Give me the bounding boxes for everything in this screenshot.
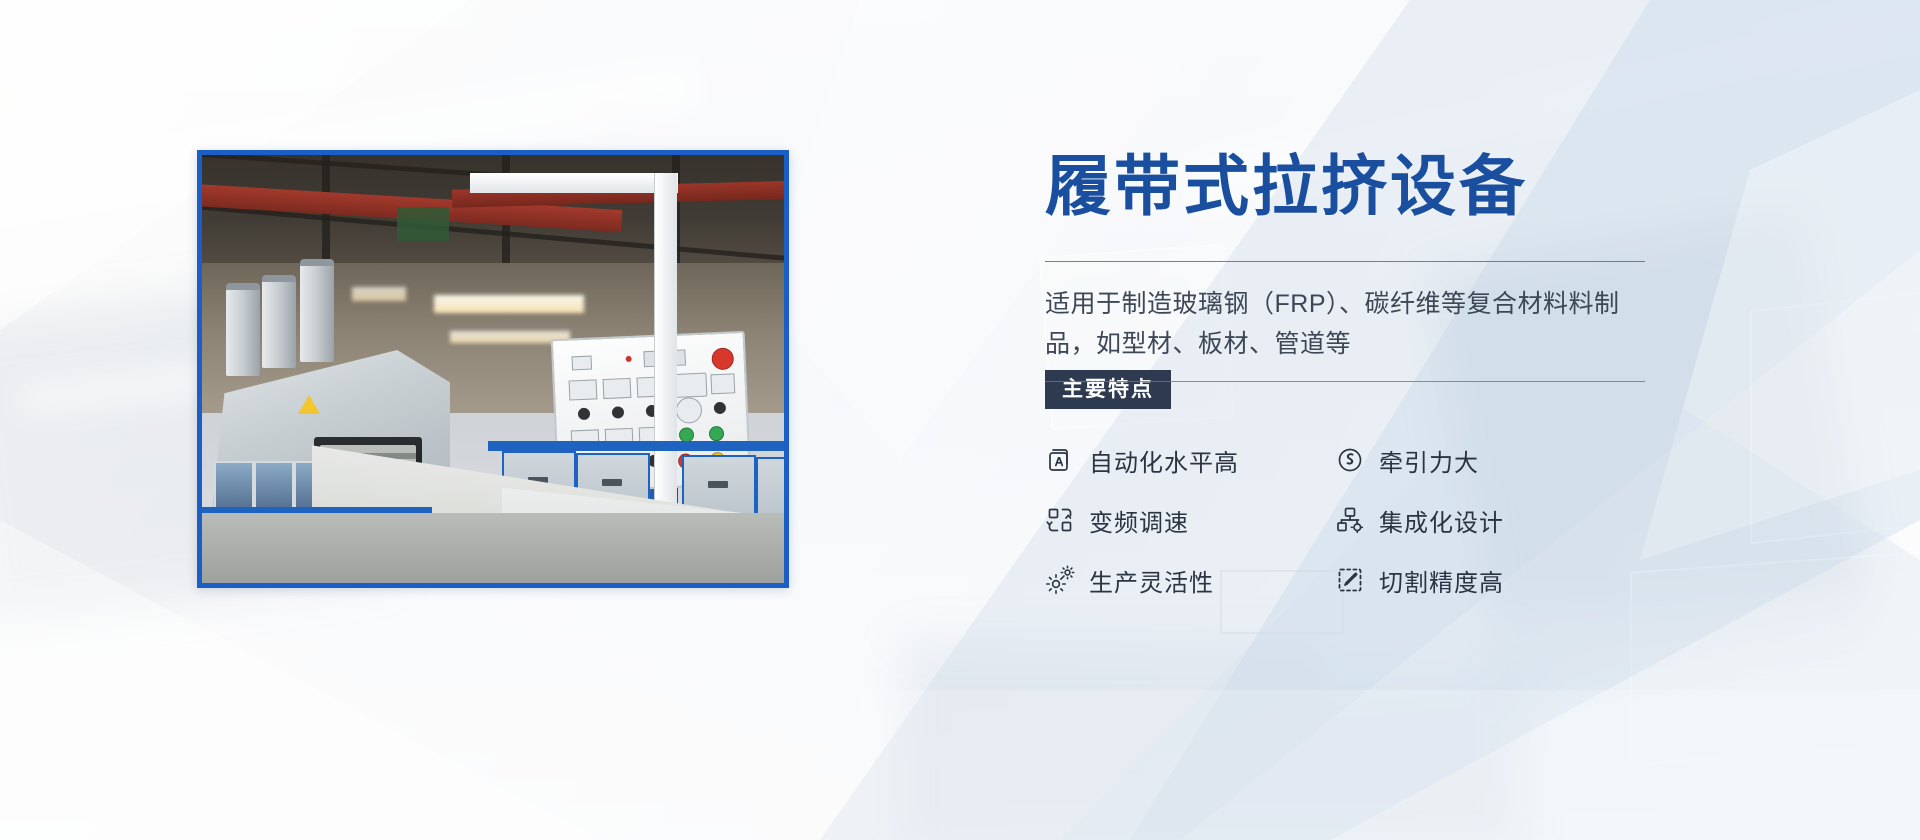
title-divider bbox=[1045, 261, 1645, 262]
banner-subtitle: 适用于制造玻璃钢（FRP）、碳纤维等复合材料料制品，如型材、板材、管道等 bbox=[1045, 284, 1645, 365]
cutting-precision-icon bbox=[1335, 565, 1365, 595]
page-title: 履带式拉挤设备 bbox=[1045, 150, 1685, 223]
product-banner: 履带式拉挤设备 适用于制造玻璃钢（FRP）、碳纤维等复合材料料制品，如型材、板材… bbox=[0, 0, 1920, 840]
feature-item[interactable]: 牵引力大 bbox=[1335, 443, 1625, 478]
frequency-speed-icon bbox=[1045, 505, 1075, 535]
status-badge: 主要特点 bbox=[1045, 370, 1171, 409]
automation-icon bbox=[1045, 445, 1075, 475]
product-photo bbox=[202, 155, 784, 583]
feature-label: 变频调速 bbox=[1089, 503, 1189, 538]
feature-label: 集成化设计 bbox=[1379, 503, 1504, 538]
feature-label: 切割精度高 bbox=[1379, 563, 1504, 598]
feature-list: 自动化水平高 牵引力大 bbox=[1045, 443, 1685, 598]
feature-item[interactable]: 自动化水平高 bbox=[1045, 443, 1335, 478]
integrated-design-icon bbox=[1335, 505, 1365, 535]
feature-item[interactable]: 集成化设计 bbox=[1335, 503, 1625, 538]
banner-content: 履带式拉挤设备 适用于制造玻璃钢（FRP）、碳纤维等复合材料料制品，如型材、板材… bbox=[1045, 150, 1685, 598]
feature-label: 自动化水平高 bbox=[1089, 443, 1239, 478]
gears-flexibility-icon bbox=[1045, 565, 1075, 595]
feature-label: 生产灵活性 bbox=[1089, 563, 1214, 598]
product-photo-frame[interactable] bbox=[197, 150, 789, 588]
feature-label: 牵引力大 bbox=[1379, 443, 1479, 478]
features-divider bbox=[1045, 381, 1645, 382]
traction-force-icon bbox=[1335, 445, 1365, 475]
feature-item[interactable]: 生产灵活性 bbox=[1045, 563, 1335, 598]
feature-item[interactable]: 切割精度高 bbox=[1335, 563, 1625, 598]
feature-item[interactable]: 变频调速 bbox=[1045, 503, 1335, 538]
